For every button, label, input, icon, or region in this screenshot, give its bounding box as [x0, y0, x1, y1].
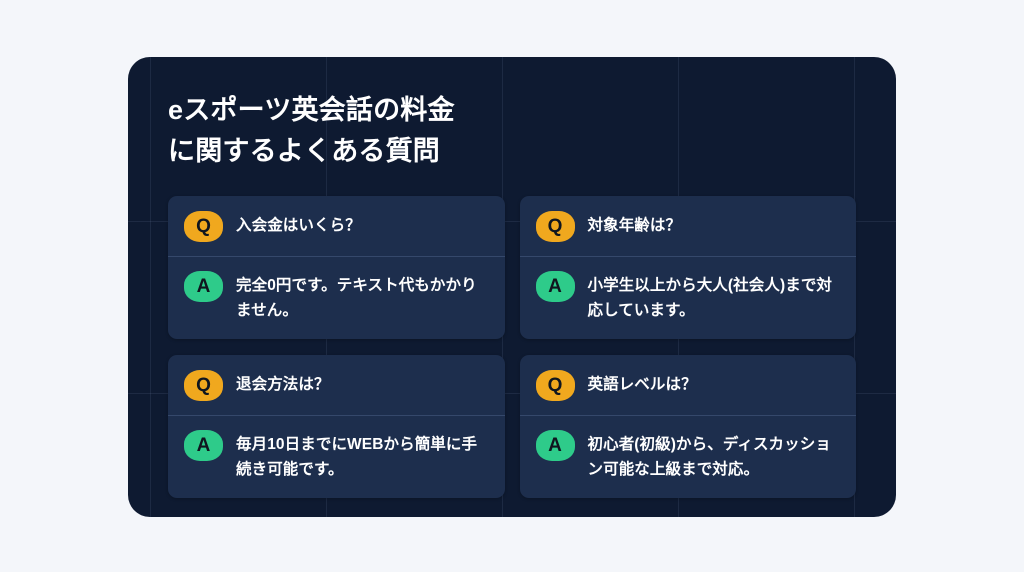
faq-question-text: 入会金はいくら？ [236, 210, 361, 238]
faq-question-row[interactable]: Q 入会金はいくら？ [168, 196, 505, 256]
panel-content: eスポーツ英会話の料金 に関するよくある質問 Q 入会金はいくら？ A 完全0円… [128, 57, 896, 498]
faq-answer-text: 毎月10日までにWEBから簡単に手続き可能です。 [236, 429, 489, 482]
faq-question-row[interactable]: Q 対象年齢は？ [520, 196, 857, 256]
question-badge-icon: Q [184, 211, 223, 242]
answer-badge-icon: A [536, 430, 575, 461]
faq-question-text: 英語レベルは？ [588, 369, 697, 397]
answer-badge-icon: A [184, 430, 223, 461]
faq-answer-row: A 毎月10日までにWEBから簡単に手続き可能です。 [168, 415, 505, 498]
faq-card-grid: Q 入会金はいくら？ A 完全0円です。テキスト代もかかりません。 Q 対象年齢… [168, 196, 856, 498]
faq-panel: eスポーツ英会話の料金 に関するよくある質問 Q 入会金はいくら？ A 完全0円… [128, 57, 896, 517]
answer-badge-icon: A [184, 271, 223, 302]
faq-question-row[interactable]: Q 英語レベルは？ [520, 355, 857, 415]
question-badge-icon: Q [536, 211, 575, 242]
faq-answer-text: 完全0円です。テキスト代もかかりません。 [236, 270, 489, 323]
faq-answer-text: 小学生以上から大人(社会人)まで対応しています。 [588, 270, 841, 323]
faq-card[interactable]: Q 英語レベルは？ A 初心者(初級)から、ディスカッション可能な上級まで対応。 [520, 355, 857, 498]
faq-answer-row: A 小学生以上から大人(社会人)まで対応しています。 [520, 256, 857, 339]
faq-card[interactable]: Q 対象年齢は？ A 小学生以上から大人(社会人)まで対応しています。 [520, 196, 857, 339]
faq-card[interactable]: Q 入会金はいくら？ A 完全0円です。テキスト代もかかりません。 [168, 196, 505, 339]
faq-answer-row: A 完全0円です。テキスト代もかかりません。 [168, 256, 505, 339]
page-title: eスポーツ英会話の料金 に関するよくある質問 [168, 90, 856, 172]
faq-card[interactable]: Q 退会方法は？ A 毎月10日までにWEBから簡単に手続き可能です。 [168, 355, 505, 498]
faq-answer-text: 初心者(初級)から、ディスカッション可能な上級まで対応。 [588, 429, 841, 482]
faq-question-text: 退会方法は？ [236, 369, 330, 397]
faq-question-text: 対象年齢は？ [588, 210, 682, 238]
answer-badge-icon: A [536, 271, 575, 302]
question-badge-icon: Q [536, 370, 575, 401]
faq-answer-row: A 初心者(初級)から、ディスカッション可能な上級まで対応。 [520, 415, 857, 498]
faq-question-row[interactable]: Q 退会方法は？ [168, 355, 505, 415]
question-badge-icon: Q [184, 370, 223, 401]
